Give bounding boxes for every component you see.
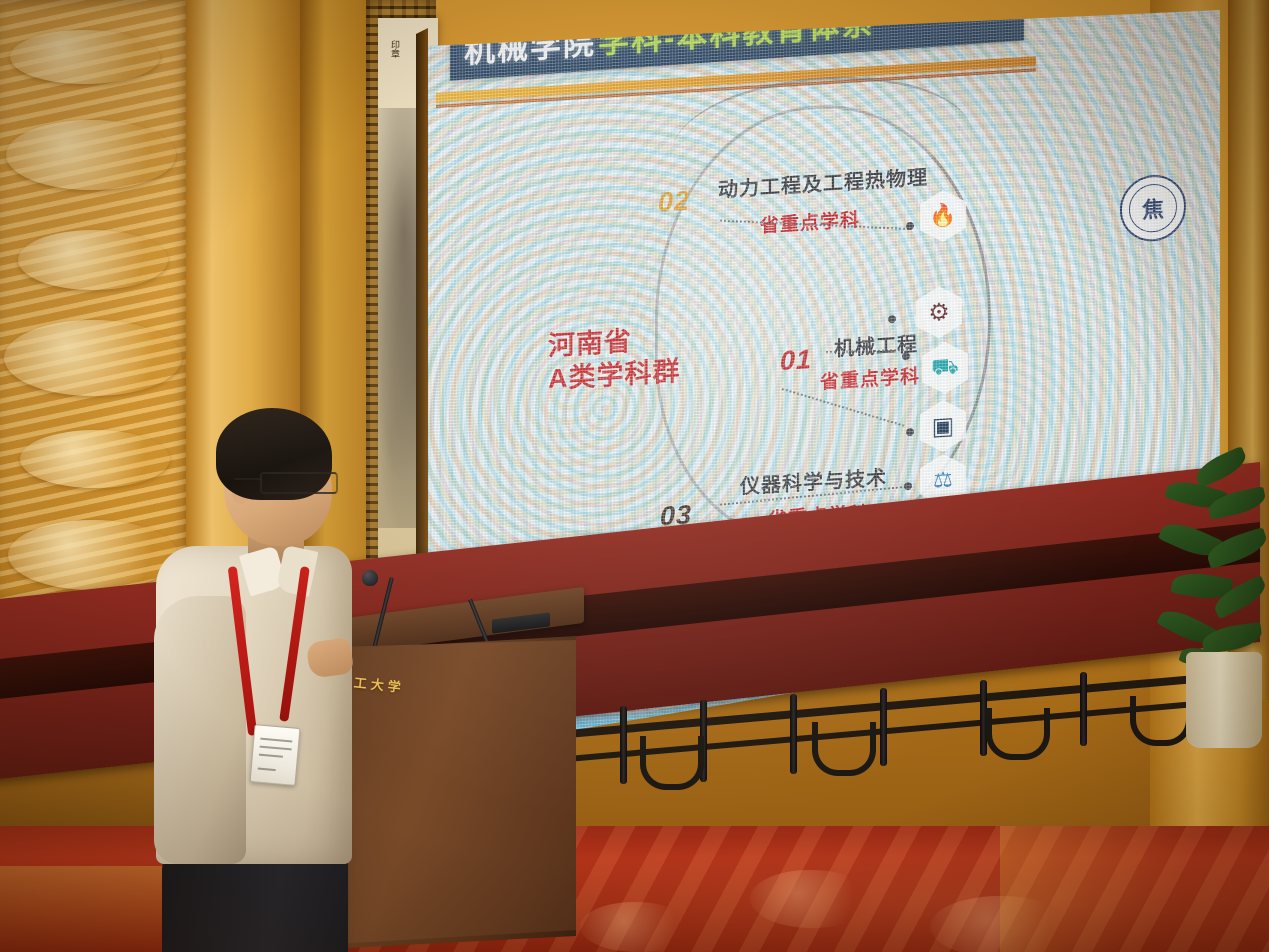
presenter-arm [154, 596, 246, 864]
presenter [140, 408, 380, 952]
university-logo-glyph: 焦 [1129, 183, 1177, 234]
stage-truss-loop-3 [986, 708, 1050, 760]
stage-truss-loop-2 [812, 722, 876, 776]
glasses-icon [260, 472, 338, 494]
discipline-number-01: 01 [780, 344, 812, 377]
discipline-number-02: 02 [658, 185, 690, 218]
stage-truss-loop-1 [640, 736, 704, 790]
discipline-group-label: 河南省 A类学科群 [548, 322, 681, 396]
conference-hall-photo: 印章 机械学院 学科-本科教育体系 [0, 0, 1269, 952]
presenter-hand [306, 637, 355, 679]
plant-pot [1186, 652, 1262, 748]
stage-truss-leg-6 [1080, 672, 1087, 746]
stage-truss-loop-4 [1130, 696, 1192, 746]
painting-seal: 印章 [388, 40, 400, 70]
potted-plant [1150, 450, 1269, 680]
stage-truss-leg-1 [620, 706, 627, 784]
stage-truss-leg-3 [790, 694, 797, 774]
stage-truss-leg-4 [880, 688, 887, 766]
carpet-gold-border [1000, 826, 1269, 952]
name-badge [250, 724, 301, 786]
